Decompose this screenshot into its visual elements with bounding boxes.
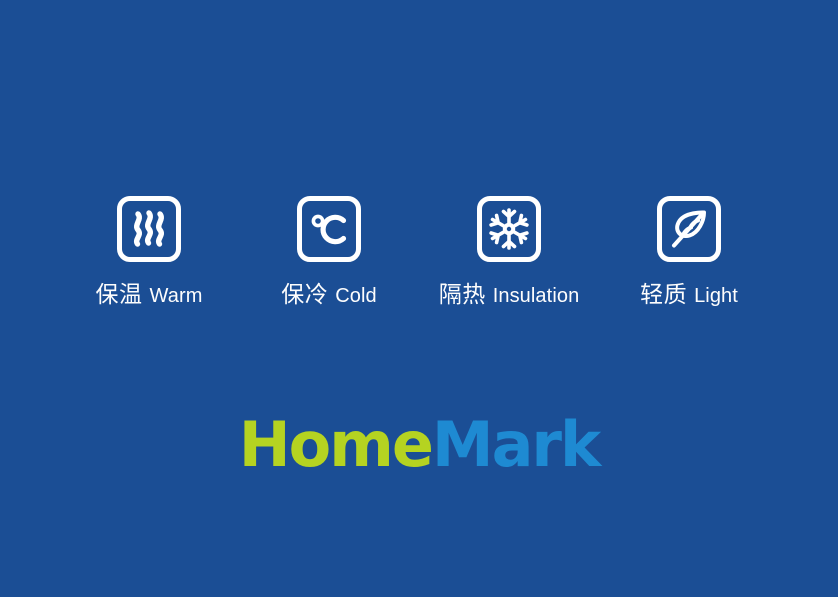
feather-leaf-icon <box>668 207 710 251</box>
brand-logo-container: HomeMark <box>0 414 838 476</box>
feature-label-en: Cold <box>335 286 377 306</box>
feature-item-insulation: 隔热 Insulation <box>419 196 599 306</box>
feature-banner: 保温 Warm 保冷 Cold <box>0 0 838 597</box>
snowflake-icon <box>487 207 531 251</box>
feature-label-cn: 轻质 <box>640 283 687 306</box>
heat-waves-icon <box>129 208 169 250</box>
feature-label-warm: 保温 Warm <box>96 283 203 306</box>
feature-item-warm: 保温 Warm <box>59 196 239 306</box>
feature-label-light: 轻质 Light <box>640 283 738 306</box>
icon-frame-insulation <box>477 196 541 262</box>
feature-label-insulation: 隔热 Insulation <box>439 283 580 306</box>
icon-frame-cold <box>297 196 361 262</box>
feature-item-light: 轻质 Light <box>599 196 779 306</box>
feature-list: 保温 Warm 保冷 Cold <box>0 196 838 306</box>
feature-item-cold: 保冷 Cold <box>239 196 419 306</box>
feature-label-cn: 保温 <box>96 283 143 306</box>
brand-logo: HomeMark <box>239 414 599 476</box>
feature-label-cold: 保冷 Cold <box>281 283 377 306</box>
brand-logo-mark: Mark <box>432 408 599 481</box>
icon-frame-warm <box>117 196 181 262</box>
feature-label-cn: 隔热 <box>439 283 486 306</box>
celsius-degree-icon <box>308 208 350 250</box>
brand-logo-home: Home <box>239 408 432 481</box>
feature-label-en: Insulation <box>493 286 580 306</box>
feature-label-en: Warm <box>150 286 203 306</box>
feature-label-cn: 保冷 <box>281 283 328 306</box>
icon-frame-light <box>657 196 721 262</box>
feature-label-en: Light <box>694 286 738 306</box>
